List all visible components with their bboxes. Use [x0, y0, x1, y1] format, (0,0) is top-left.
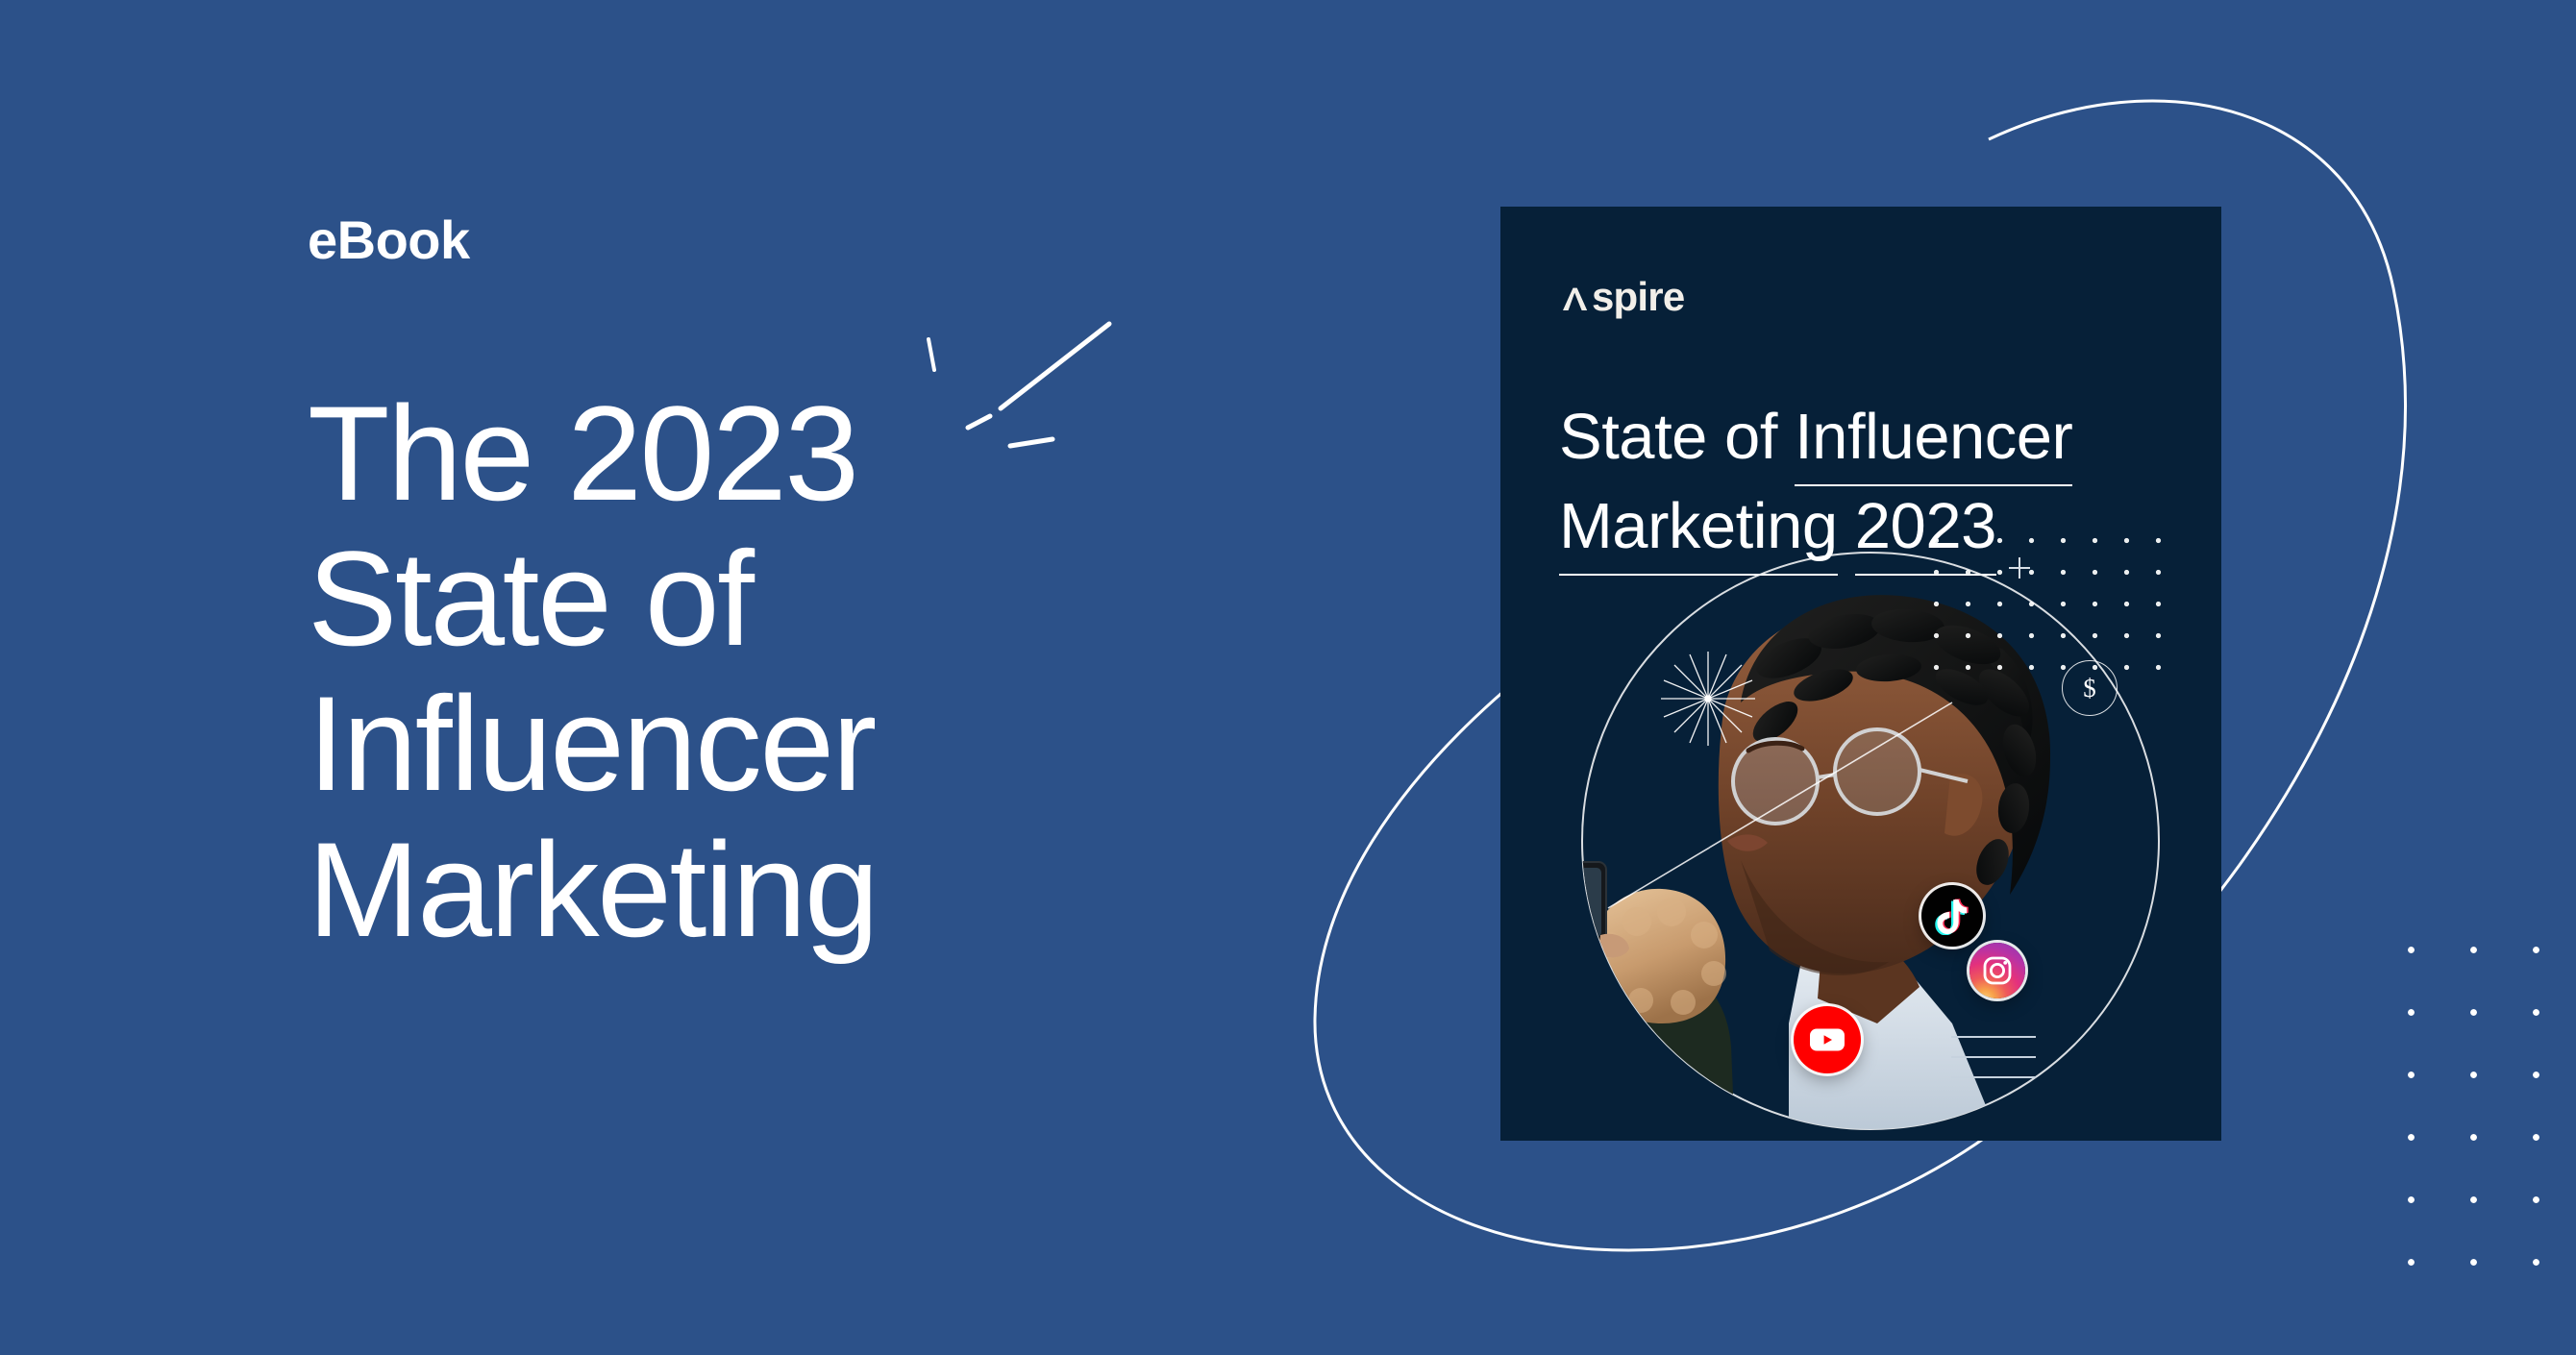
cover-title: State of InfluencerMarketing 2023	[1559, 395, 2174, 568]
plus-icon	[2007, 555, 2032, 580]
hero-copy: eBook The 2023 State of Influencer Marke…	[308, 213, 1288, 962]
dollar-symbol: $	[2083, 674, 2096, 703]
promo-banner: eBook The 2023 State of Influencer Marke…	[0, 0, 2576, 1355]
cover-title-gap	[1838, 490, 1855, 562]
dot-grid-right-icon	[2374, 913, 2576, 1317]
cover-title-year: 2023	[1855, 490, 1996, 576]
triple-lines-icon	[1951, 1036, 2036, 1078]
aspire-logo: spire	[1561, 277, 1684, 317]
sparkle-icon	[1655, 646, 1761, 751]
tiktok-glyph	[1935, 897, 1969, 935]
cover-title-marketing: Marketing	[1559, 490, 1838, 576]
tiktok-icon[interactable]	[1921, 885, 1983, 947]
aspire-a-icon	[1561, 282, 1590, 312]
aspire-logo-text: spire	[1592, 277, 1684, 317]
page-title: The 2023 State of Influencer Marketing	[308, 381, 1288, 962]
youtube-glyph	[1808, 1025, 1846, 1054]
cover-title-plain: State of	[1559, 401, 1795, 473]
instagram-icon[interactable]	[1969, 943, 2025, 998]
content-type-label: eBook	[308, 213, 1288, 267]
dollar-badge-icon: $	[2062, 660, 2118, 716]
cover-title-influencer: Influencer	[1795, 401, 2072, 486]
youtube-icon[interactable]	[1794, 1006, 1861, 1073]
instagram-glyph	[1981, 954, 2014, 987]
